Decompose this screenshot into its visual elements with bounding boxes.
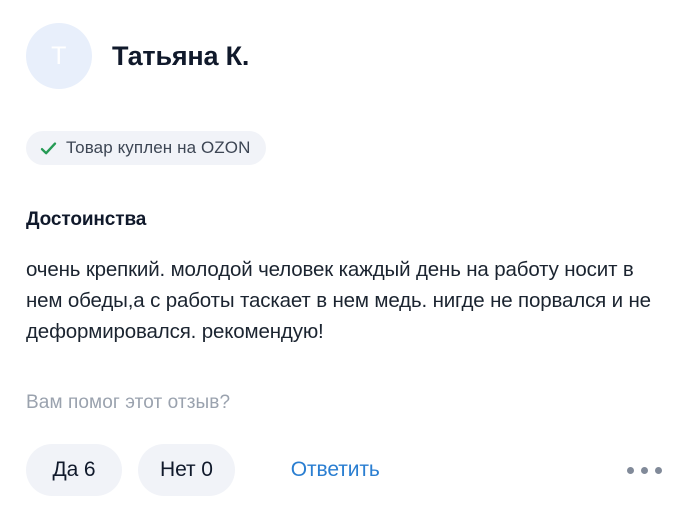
ellipsis-dot <box>641 467 648 474</box>
pros-section-title: Достоинства <box>26 209 146 231</box>
vote-yes-button[interactable]: Да 6 <box>26 444 122 496</box>
check-icon <box>40 140 57 157</box>
vote-no-button[interactable]: Нет 0 <box>138 444 235 496</box>
ellipsis-dot <box>627 467 634 474</box>
reply-link[interactable]: Ответить <box>291 458 380 482</box>
purchase-badge-label: Товар куплен на OZON <box>66 138 250 158</box>
purchase-verified-badge: Товар куплен на OZON <box>26 131 266 165</box>
review-header: Т Татьяна К. <box>26 23 249 89</box>
review-actions: Да 6 Нет 0 Ответить <box>26 444 668 496</box>
helpful-question-label: Вам помог этот отзыв? <box>26 392 230 414</box>
avatar-initial: Т <box>51 44 67 69</box>
ellipsis-icon[interactable] <box>621 457 668 484</box>
review-body-text: очень крепкий. молодой человек каждый де… <box>26 254 674 347</box>
avatar: Т <box>26 23 92 89</box>
author-name: Татьяна К. <box>112 41 249 72</box>
ellipsis-dot <box>655 467 662 474</box>
review-card: Т Татьяна К. Товар куплен на OZON Достои… <box>0 0 690 526</box>
